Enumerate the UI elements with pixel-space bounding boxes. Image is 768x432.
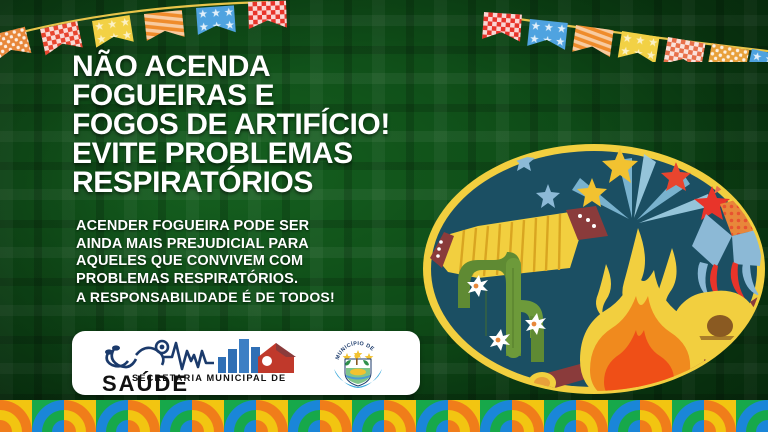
logo-line-2: SAÚDE [102,371,189,391]
responsibility-kicker: A RESPONSABILIDADE É DE TODOS! [76,289,476,305]
page-title: NÃO ACENDA FOGUEIRAS E FOGOS DE ARTIFÍCI… [72,52,502,197]
poster-canvas: NÃO ACENDA FOGUEIRAS E FOGOS DE ARTIFÍCI… [0,0,768,432]
arc-pattern-strip [0,400,768,432]
subtitle-line-3: AQUELES QUE CONVIVEM COM [76,253,476,271]
municipal-seal: MUNICÍPIO DE [330,335,386,391]
heartbeat-icon [164,343,214,369]
buildings-icon [218,339,260,373]
headline-line-5: RESPIRATÓRIOS [72,168,502,197]
stethoscope-earpiece-icon [112,345,120,350]
house-icon [258,343,296,373]
headline-line-2: FOGUEIRAS E [72,81,502,110]
headline-line-1: NÃO ACENDA [72,52,502,81]
headline-line-4: EVITE PROBLEMAS [72,139,502,168]
stethoscope-earpiece-icon [105,349,113,354]
subtitle-line-4: PROBLEMAS RESPIRATÓRIOS. [76,271,476,289]
subtitle-line-1: ACENDER FOGUEIRA PODE SER [76,218,476,236]
logo-card: SECRETARIA MUNICIPAL DE SAÚDE MUNICÍPIO … [72,331,420,395]
stethoscope-icon [107,348,164,367]
secretaria-municipal-saude-logo: SECRETARIA MUNICIPAL DE SAÚDE [100,335,312,391]
subtitle-block: ACENDER FOGUEIRA PODE SER AINDA MAIS PRE… [76,218,476,288]
subtitle-line-2: AINDA MAIS PREJUDICIAL PARA [76,236,476,254]
headline-line-3: FOGOS DE ARTIFÍCIO! [72,110,502,139]
